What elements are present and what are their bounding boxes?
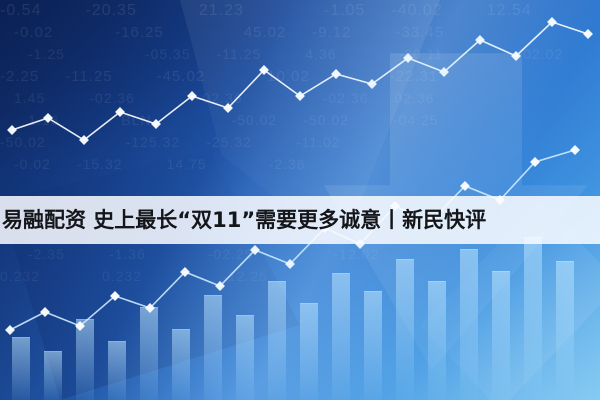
chart-bar (172, 329, 190, 400)
background-number: -15.32 (77, 156, 123, 172)
background-number: -1.36 (109, 246, 146, 262)
background-number: -16.25 (115, 24, 164, 41)
background-number: 02.36 (394, 90, 434, 106)
background-number: 1.45 (14, 90, 45, 106)
chart-node-marker (5, 325, 15, 335)
background-number: -125.32 (126, 134, 180, 150)
headline-band: 易融配资 史上最长“双11”需要更多诚意丨新民快评 (0, 196, 600, 244)
background-number: -33.45 (396, 24, 445, 41)
background-number: -0.02 (14, 24, 53, 41)
chart-node-marker (259, 65, 269, 75)
background-number: -50.02 (231, 112, 277, 128)
chart-node-marker (403, 53, 413, 63)
chart-node-marker (285, 259, 295, 269)
chart-node-marker (75, 321, 85, 331)
background-number: -45.02 (157, 68, 206, 85)
background-number: -02.36 (197, 90, 243, 106)
background-number-row: -0.02-16.2545.02-9.12-33.45 (0, 24, 444, 41)
background-number-row: 1.16BLN-50.02-50.02-04.25 (0, 112, 439, 128)
chart-bar (236, 315, 254, 400)
background-number: -02.36 (89, 90, 135, 106)
chart-bar (108, 341, 126, 400)
chart-node-marker (570, 145, 580, 155)
decorative-shard-left (0, 150, 300, 400)
chart-node-marker (215, 281, 225, 291)
chart-bar (428, 281, 446, 400)
chart-bar (396, 259, 414, 400)
chart-node-marker (331, 69, 341, 79)
chart-node-marker (547, 17, 557, 27)
background-number-row: 0.2320.232-12.25 (0, 268, 268, 284)
background-number: -02.25 (208, 246, 254, 262)
chart-bar (300, 303, 318, 400)
background-number: -2.35 (28, 246, 65, 262)
chart-bar (44, 351, 62, 400)
chart-node-marker (40, 307, 50, 317)
background-number-row: 1.45-02.36-02.36-02.3602.36 (0, 90, 434, 106)
background-number: -04.25 (393, 112, 439, 128)
chart-bar (76, 319, 94, 400)
chart-node-marker (43, 113, 53, 123)
chart-bar (524, 237, 542, 400)
chart-node-marker (511, 51, 521, 61)
chart-node-marker (223, 103, 233, 113)
background-number-row: -1.25-05.35-11.254.36-20.1102.02 (0, 46, 563, 62)
background-number: -50.02 (0, 134, 46, 150)
background-number: -12.25 (222, 268, 268, 284)
chart-node-marker (475, 35, 485, 45)
chart-bar (204, 295, 222, 400)
background-number: -40.02 (391, 2, 442, 20)
chart-bar (140, 307, 158, 400)
background-number: 02.02 (523, 46, 563, 62)
background-number: -2.25 (0, 68, 39, 85)
background-number: 4.36 (305, 46, 336, 62)
chart-node-marker (439, 67, 449, 77)
background-number: -1.05 (324, 2, 365, 20)
chart-bar (12, 337, 30, 400)
background-number: 10.02 (267, 68, 310, 85)
background-number: -11.25 (217, 46, 262, 62)
background-number: 0.232 (102, 268, 142, 284)
background-number: -1.25 (28, 46, 65, 62)
chart-node-marker (187, 91, 197, 101)
chart-node-marker (180, 267, 190, 277)
background-number: -05.35 (145, 46, 191, 62)
background-number-row: -2.25-11.25-45.0210.02-22.31 (0, 68, 438, 85)
chart-bar (492, 271, 510, 400)
chart-bar (556, 261, 574, 400)
chart-node-marker (295, 91, 305, 101)
background-number: -50.02 (303, 112, 349, 128)
chart-bar (332, 273, 350, 400)
background-number: -0.54 (0, 2, 41, 20)
chart-node-marker (115, 107, 125, 117)
background-number: -02.36 (323, 90, 369, 106)
chart-bar (364, 291, 382, 400)
chart-node-marker (151, 119, 161, 129)
background-number: -20.35 (85, 2, 136, 20)
background-number: BLN (121, 112, 151, 128)
chart-node-marker (250, 245, 260, 255)
background-number: 1.16 (28, 112, 59, 128)
background-number-row: -0.02-15.3214.75-2.36 (0, 156, 306, 172)
background-number: -0.02 (14, 156, 51, 172)
chart-node-marker (7, 125, 17, 135)
chart-node-marker (145, 303, 155, 313)
background-number: 12.54 (487, 2, 532, 20)
headline-text: 易融配资 史上最长“双11”需要更多诚意丨新民快评 (0, 210, 486, 231)
chart-node-marker (79, 135, 89, 145)
background-number-row: -0.54-20.3521.23-1.05-40.0212.54 (0, 2, 532, 20)
background-number: 21.23 (199, 2, 244, 20)
background-number: -2.36 (269, 156, 306, 172)
background-number: 0.232 (0, 268, 40, 284)
background-number: -11.25 (65, 68, 112, 85)
chart-bar (460, 249, 478, 400)
chart-node-marker (530, 157, 540, 167)
chart-node-marker (110, 291, 120, 301)
background-number: -22.31 (390, 68, 439, 85)
background-number: -20.11 (399, 46, 444, 62)
background-number-row: -2.35-1.36-02.25-12.02 (0, 246, 379, 262)
promo-banner-image: -0.54-20.3521.23-1.05-40.0212.54-0.02-16… (0, 0, 600, 400)
background-number-row: -50.02-125.32-25.32-11.02 (0, 134, 341, 150)
background-number: -12.02 (334, 246, 380, 262)
background-number: -9.12 (312, 24, 351, 41)
background-number: -25.32 (206, 134, 252, 150)
background-number: -11.02 (296, 134, 341, 150)
chart-node-marker (583, 29, 593, 39)
background-number: 45.02 (244, 24, 287, 41)
chart-line (12, 22, 588, 140)
chart-bar (268, 281, 286, 400)
chart-node-marker (367, 79, 377, 89)
background-number: 14.75 (167, 156, 207, 172)
chart-node-marker (460, 181, 470, 191)
